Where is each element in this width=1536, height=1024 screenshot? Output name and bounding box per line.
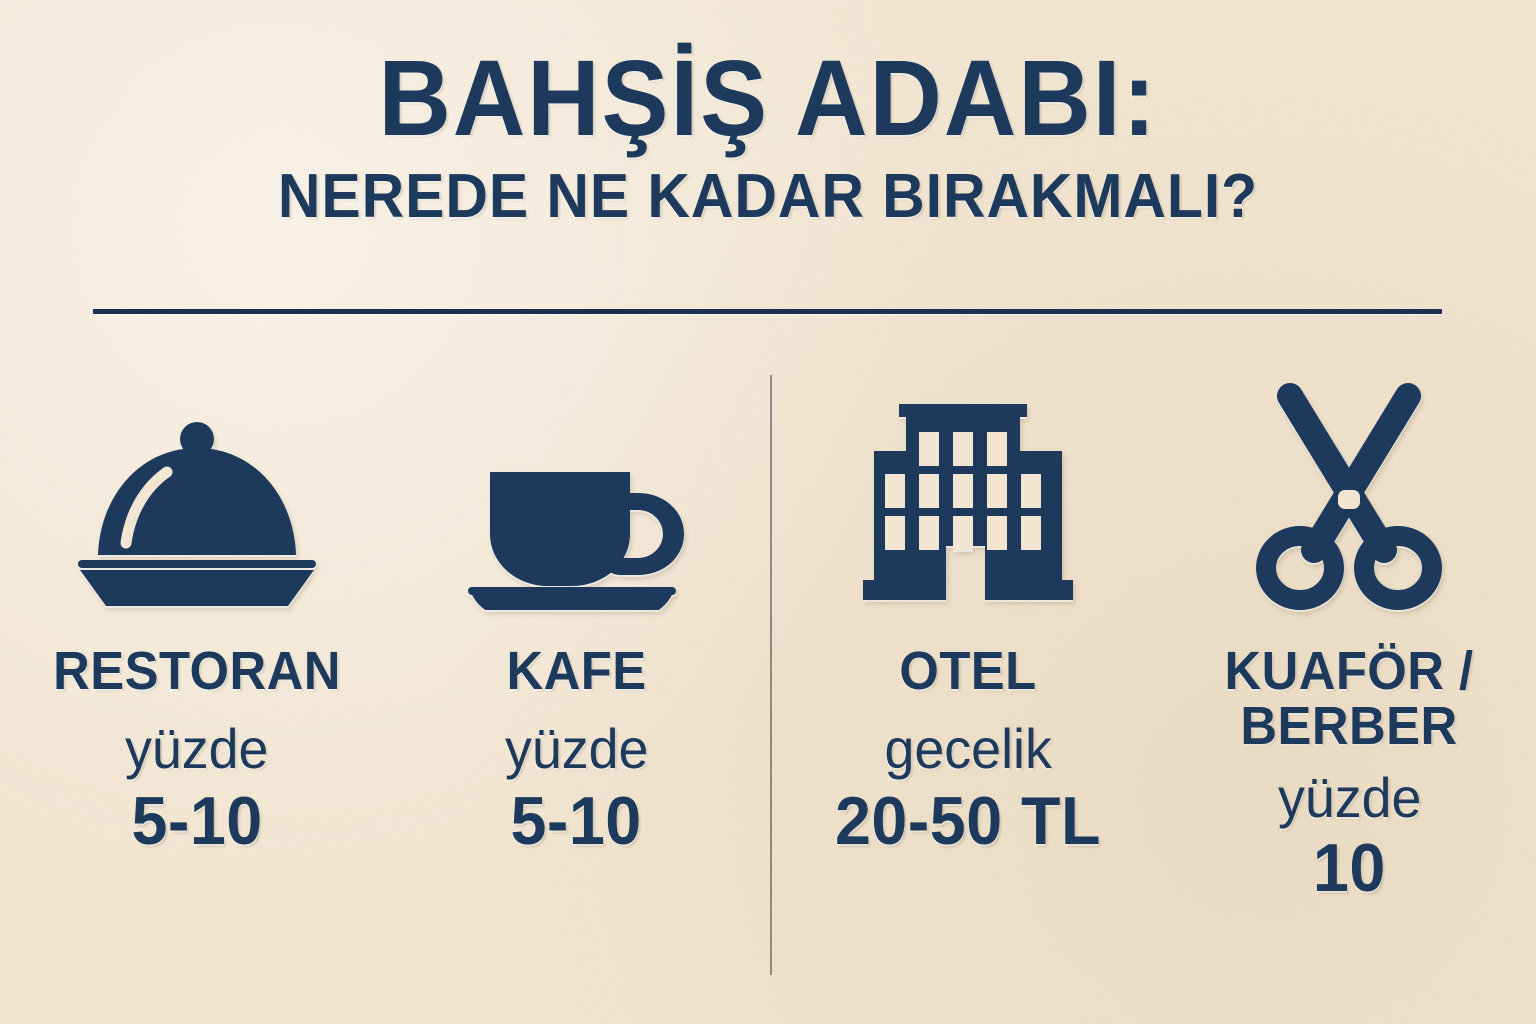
page-title: BAHŞİŞ ADABI: — [54, 0, 1482, 152]
column-unit: gecelik — [884, 721, 1051, 777]
column-label: RESTORAN — [53, 644, 341, 699]
column-amount: 20-50 TL — [835, 787, 1101, 855]
poster-header: BAHŞİŞ ADABI: NEREDE NE KADAR BIRAKMALI? — [0, 0, 1536, 228]
column-kafe: KAFE yüzde 5-10 — [384, 360, 764, 1024]
coffee-cup-icon — [452, 378, 700, 610]
column-restoran: RESTORAN yüzde 5-10 — [0, 360, 384, 1024]
column-unit: yüzde — [1278, 770, 1421, 826]
hotel-building-icon — [857, 378, 1079, 610]
page-subtitle: NEREDE NE KADAR BIRAKMALI? — [38, 152, 1497, 228]
column-amount: 5-10 — [511, 787, 642, 855]
cloche-icon — [72, 378, 322, 610]
column-kuafor-berber: KUAFÖR / BERBER yüzde 10 — [1155, 360, 1536, 1024]
column-unit: yüzde — [125, 721, 268, 777]
tipping-columns: RESTORAN yüzde 5-10 KAFE yüzde 5-10 — [0, 360, 1536, 1024]
column-label: KUAFÖR / BERBER — [1189, 644, 1509, 754]
header-divider — [93, 309, 1442, 314]
tipping-etiquette-infographic: BAHŞİŞ ADABI: NEREDE NE KADAR BIRAKMALI?… — [0, 0, 1536, 1024]
scissors-icon — [1256, 378, 1442, 610]
column-label: OTEL — [899, 644, 1036, 699]
column-label: KAFE — [506, 644, 646, 699]
column-otel: OTEL gecelik 20-50 TL — [763, 360, 1155, 1024]
column-amount: 10 — [1313, 834, 1386, 902]
column-amount: 5-10 — [131, 787, 262, 855]
column-unit: yüzde — [505, 721, 648, 777]
